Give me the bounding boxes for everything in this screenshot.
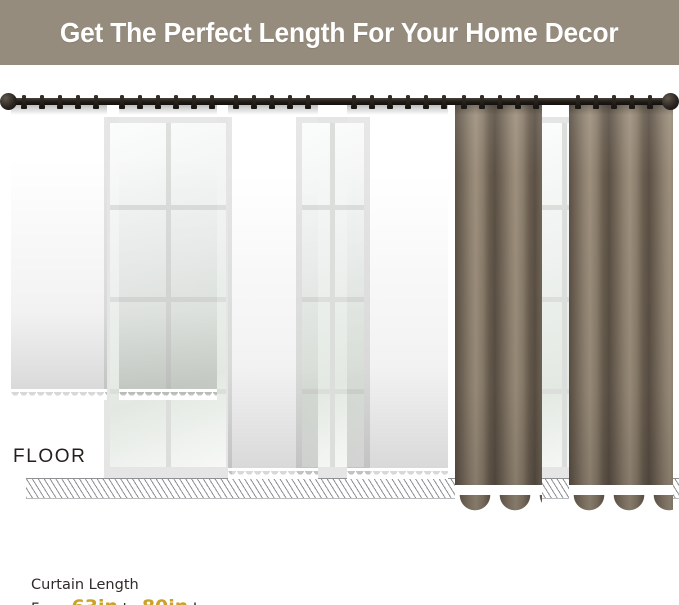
curtain-panel-medium-left	[228, 103, 318, 479]
curtain-ring	[442, 95, 446, 108]
curtain-illustration: FLOOR Curtain Length From 63in to 80in L…	[0, 65, 679, 605]
curtain-hem	[11, 389, 107, 400]
window-mullion	[330, 123, 335, 467]
rod-finial-left-icon	[0, 93, 17, 110]
curtain-ring	[576, 95, 580, 108]
curtain-ring	[534, 95, 538, 108]
curtain-ring	[612, 95, 616, 108]
caption-min: 63in	[72, 596, 118, 605]
caption-range: From 63in to 80in Long	[31, 595, 228, 605]
curtain-ring	[480, 95, 484, 108]
curtain-ring	[252, 95, 256, 108]
window-mullion	[562, 123, 567, 467]
curtain-ring	[156, 95, 160, 108]
page-title: Get The Perfect Length For Your Home Dec…	[60, 17, 619, 49]
caption-suffix: Long	[193, 601, 228, 605]
caption-middle: to	[123, 601, 138, 605]
curtain-panel-long-right	[569, 103, 673, 511]
curtain-ring	[120, 95, 124, 108]
curtain-ring	[174, 95, 178, 108]
caption-title: Curtain Length	[31, 576, 228, 595]
curtain-ring	[462, 95, 466, 108]
curtain-shading	[119, 103, 217, 400]
curtain-panel-short-right	[119, 103, 217, 400]
curtain-ring	[138, 95, 142, 108]
curtain-hem	[569, 485, 673, 511]
curtain-shading	[347, 103, 448, 479]
curtain-ring	[234, 95, 238, 108]
curtain-ring	[210, 95, 214, 108]
curtain-ring	[288, 95, 292, 108]
curtain-hem	[119, 389, 217, 400]
curtain-ring	[270, 95, 274, 108]
curtain-ring	[630, 95, 634, 108]
rod-finial-right-icon	[662, 93, 679, 110]
curtain-ring	[648, 95, 652, 108]
curtain-ring	[594, 95, 598, 108]
header-banner: Get The Perfect Length For Your Home Dec…	[0, 0, 679, 65]
curtain-ring	[94, 95, 98, 108]
curtain-shading	[228, 103, 318, 479]
curtain-ring	[58, 95, 62, 108]
curtain-ring	[192, 95, 196, 108]
curtain-ring	[76, 95, 80, 108]
floor-label: FLOOR	[13, 446, 86, 468]
curtain-hem	[455, 485, 542, 511]
curtain-shading	[569, 103, 673, 511]
curtain-ring	[22, 95, 26, 108]
curtain-panel-short-left	[11, 103, 107, 400]
curtain-rod	[6, 98, 673, 105]
caption-max: 80in	[142, 596, 188, 605]
curtain-ring	[370, 95, 374, 108]
curtain-ring	[388, 95, 392, 108]
curtain-ring	[424, 95, 428, 108]
curtain-ring	[352, 95, 356, 108]
curtain-shading	[11, 103, 107, 400]
curtain-ring	[516, 95, 520, 108]
curtain-shading	[455, 103, 542, 511]
curtain-panel-long-left	[455, 103, 542, 511]
caption-short: Curtain Length From 63in to 80in Long	[31, 576, 228, 605]
curtain-hem	[228, 468, 318, 479]
curtain-ring	[406, 95, 410, 108]
caption-prefix: From	[31, 601, 67, 605]
curtain-panel-medium-right	[347, 103, 448, 479]
curtain-hem	[347, 468, 448, 479]
curtain-ring	[306, 95, 310, 108]
curtain-ring	[498, 95, 502, 108]
curtain-ring	[40, 95, 44, 108]
